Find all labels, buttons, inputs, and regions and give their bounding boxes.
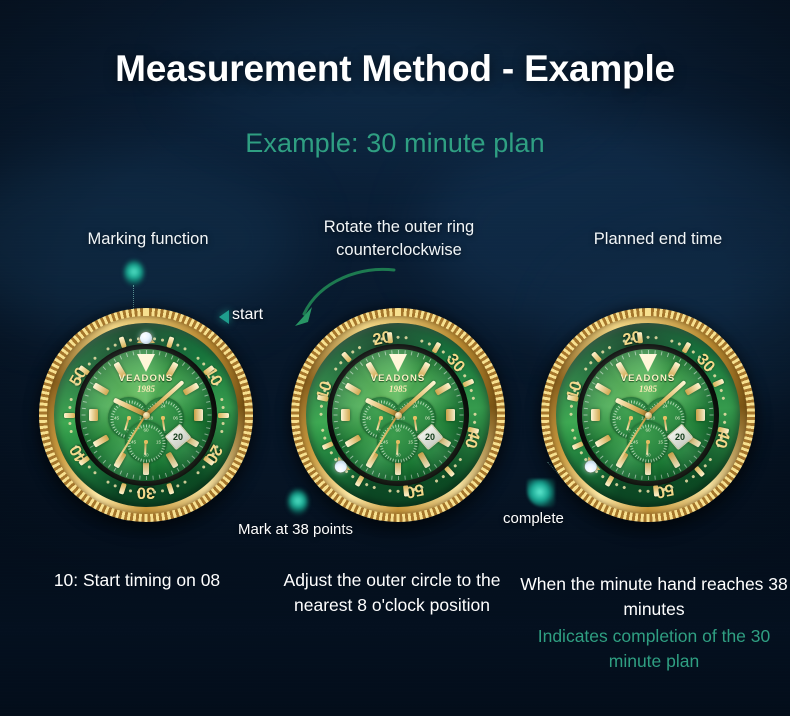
bezel-marker	[118, 482, 126, 494]
bezel-pip	[654, 336, 658, 340]
bezel-pip	[471, 397, 475, 401]
bezel-marker	[653, 486, 659, 497]
annotation-mark-at-38-points: Mark at 38 points	[238, 521, 353, 538]
bezel-pip	[220, 397, 223, 400]
bezel-pip	[721, 397, 725, 401]
bezel-marker	[317, 395, 329, 402]
hour-hand	[614, 398, 649, 418]
bezel-pip	[722, 421, 726, 425]
second-hand	[618, 415, 649, 463]
bezel-pip	[646, 336, 650, 340]
step-label-2: Rotate the outer ringcounterclockwise	[274, 216, 524, 263]
bezel-pip	[638, 489, 642, 493]
hour-hand	[364, 398, 399, 418]
bezel-pip	[719, 389, 723, 393]
bezel-pip	[68, 405, 71, 408]
bezel-pip	[404, 336, 408, 340]
bezel-pip	[220, 430, 223, 433]
watch-step-3: 1020304050VEADONS19856015304524061218601…	[541, 308, 755, 522]
bezel-pip	[469, 389, 473, 393]
caption-text-2: Adjust the outer circle to the nearest 8…	[284, 570, 501, 615]
bezel-pip	[569, 413, 573, 417]
bezel-marker	[403, 486, 409, 497]
bezel-marker	[462, 379, 474, 388]
watch-dial: VEADONS198560153045240612186015304520	[582, 349, 714, 481]
caption-text-1: 10: Start timing on 08	[54, 570, 220, 590]
bezel-pip	[221, 422, 224, 425]
bezel-pip	[221, 405, 224, 408]
bezel-marker	[387, 333, 393, 344]
watch-hands	[582, 349, 714, 481]
bezel-pip	[113, 484, 116, 487]
minute-hand	[397, 380, 437, 416]
watch-step-1: 1020304050VEADONS19856015304524061218601…	[39, 308, 253, 522]
bezel-marker	[567, 395, 579, 402]
step-caption-1: 10: Start timing on 08	[4, 568, 270, 593]
bezel-pip	[153, 490, 156, 493]
bezel-pip	[472, 421, 476, 425]
hands-center-cap	[143, 412, 150, 419]
bezel-marker	[166, 482, 174, 494]
bezel-pip	[573, 437, 577, 441]
bezel-pip	[372, 486, 376, 490]
bezel-pip	[69, 430, 72, 433]
hands-center-cap	[395, 412, 402, 419]
bezel-pip	[215, 382, 218, 385]
bezel-pip	[420, 340, 424, 344]
bezel-pip	[677, 343, 681, 347]
bezel-pip	[323, 437, 327, 441]
bezel-pip	[161, 489, 164, 492]
caption-highlight-3: Indicates completion of the 30 minute pl…	[520, 624, 788, 674]
hands-center-cap	[645, 412, 652, 419]
bezel-pip	[176, 343, 179, 346]
bezel-pip	[622, 486, 626, 490]
step-caption-3: When the minute hand reaches 38 minutes …	[520, 572, 788, 673]
bezel-pip	[136, 490, 139, 493]
bezel-pip	[319, 405, 323, 409]
bezel-pip	[615, 483, 619, 487]
bezel-marker	[637, 333, 643, 344]
step-caption-2: Adjust the outer circle to the nearest 8…	[256, 568, 528, 618]
bezel-pip	[365, 483, 369, 487]
bezel-marker	[166, 336, 174, 348]
bezel-pip	[68, 422, 71, 425]
bezel-pip	[569, 405, 573, 409]
watch-hands	[80, 349, 212, 481]
step-label-1: Marking function	[28, 228, 268, 251]
bezel-pip	[176, 484, 179, 487]
watch-dial: VEADONS198560153045240612186015304520	[80, 349, 212, 481]
bezel-pip	[427, 343, 431, 347]
step-label-3: Planned end time	[540, 228, 776, 251]
minute-hand	[647, 380, 687, 416]
bezel-pip	[128, 338, 131, 341]
watch-step-2: 1020304050VEADONS19856015304524061218601…	[291, 308, 505, 522]
bezel-pip	[646, 490, 650, 494]
bezel-pip	[723, 413, 727, 417]
bezel-marker	[712, 379, 724, 388]
bezel-marker	[64, 413, 75, 418]
bezel-pip	[473, 413, 477, 417]
bezel-pip	[113, 343, 116, 346]
bezel-pip	[321, 429, 325, 433]
infographic-canvas: Measurement Method - Example Example: 30…	[0, 0, 790, 716]
caption-text-3: When the minute hand reaches 38 minutes	[520, 574, 788, 619]
bezel-pearl-icon	[140, 332, 152, 344]
minute-hand	[145, 380, 185, 416]
bezel-pip	[215, 445, 218, 448]
bezel-pip	[396, 336, 400, 340]
bezel-pip	[74, 382, 77, 385]
bezel-pip	[670, 340, 674, 344]
watch-hands	[332, 349, 464, 481]
second-hand	[116, 415, 147, 463]
bezel-pip	[128, 489, 131, 492]
bezel-pip	[69, 397, 72, 400]
bezel-pip	[319, 413, 323, 417]
hour-hand	[112, 398, 147, 418]
second-hand	[368, 415, 399, 463]
page-title: Measurement Method - Example	[0, 48, 790, 90]
bezel-pip	[161, 338, 164, 341]
watch-dial: VEADONS198560153045240612186015304520	[332, 349, 464, 481]
bezel-marker	[218, 413, 229, 418]
bezel-pip	[388, 489, 392, 493]
bezel-pip	[396, 490, 400, 494]
bezel-pip	[571, 429, 575, 433]
page-subtitle: Example: 30 minute plan	[0, 128, 790, 159]
bezel-pip	[74, 445, 77, 448]
marker-glow-dot-1	[124, 260, 144, 286]
